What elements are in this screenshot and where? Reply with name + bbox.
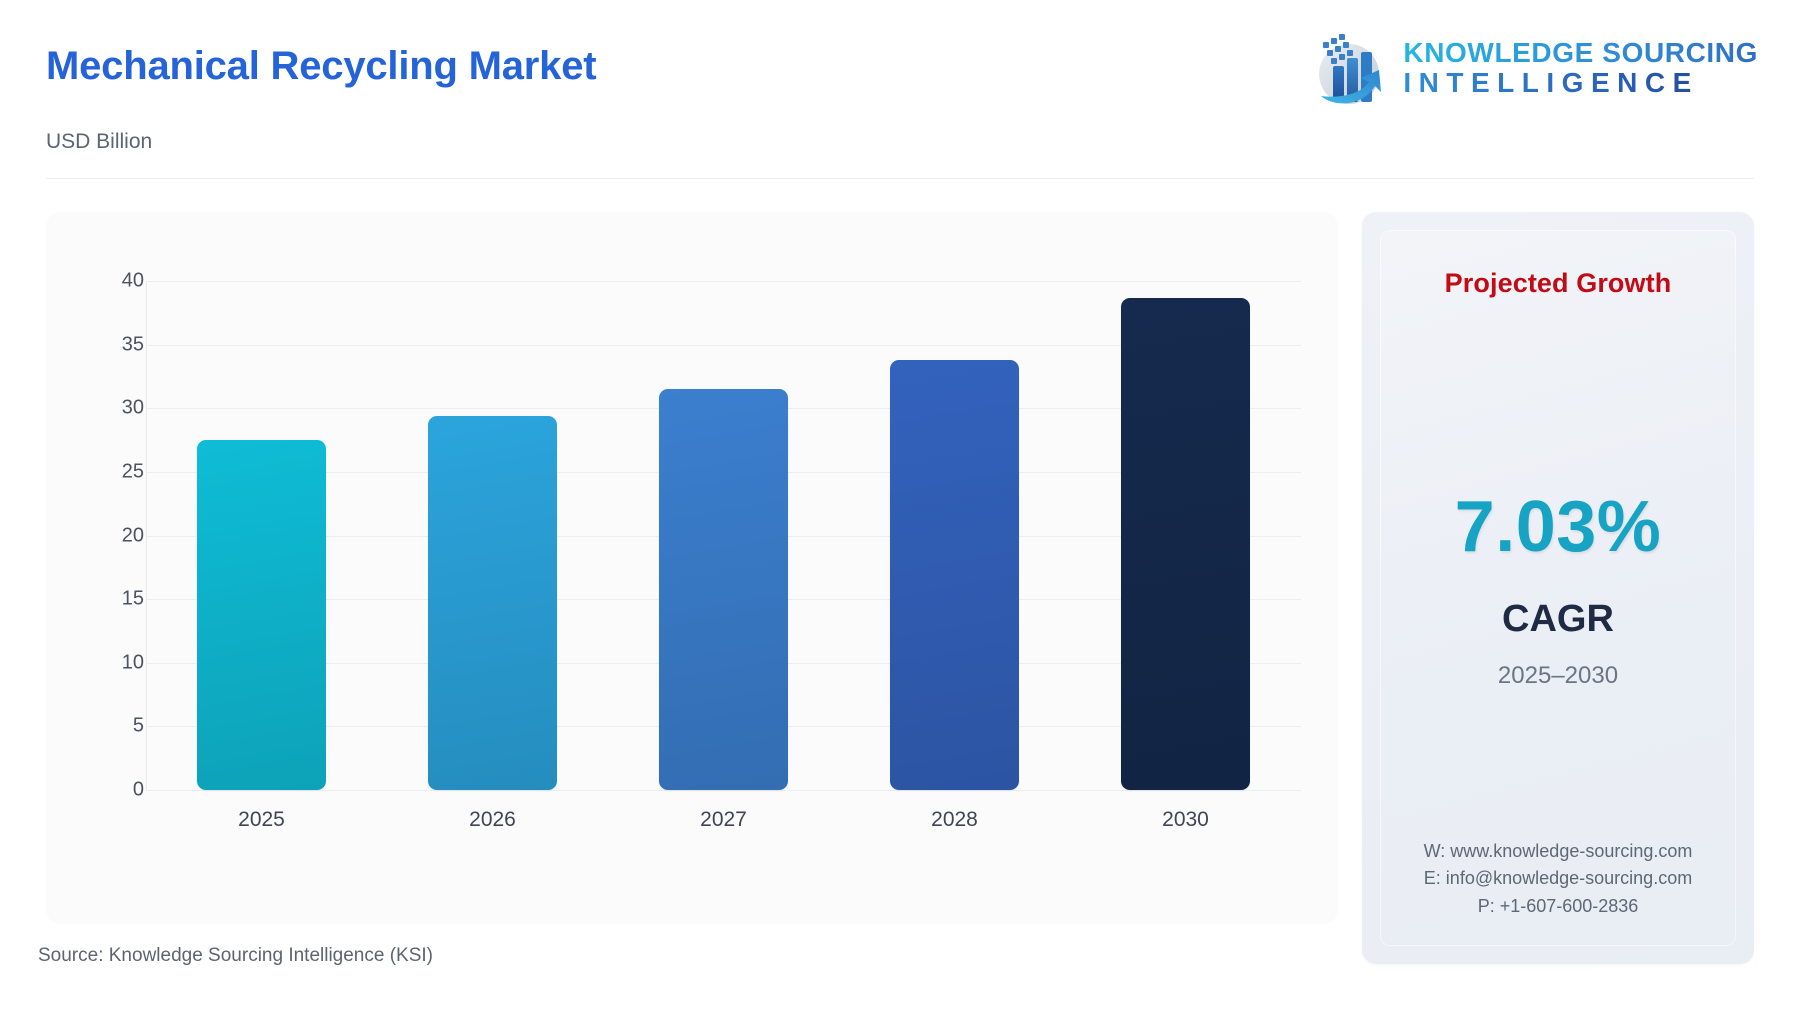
page-subtitle: USD Billion — [46, 130, 152, 154]
y-axis-tick-label: 15 — [122, 588, 144, 611]
chart-card: 051015202530354020252026202720282030 — [46, 212, 1338, 924]
x-axis-tick-label: 2027 — [659, 808, 788, 832]
bar-2027[interactable] — [659, 389, 788, 790]
cagr-label: CAGR — [1380, 598, 1736, 641]
header-divider — [46, 178, 1754, 179]
y-axis-tick-label: 40 — [122, 270, 144, 293]
page-title: Mechanical Recycling Market — [46, 44, 596, 89]
ksi-globe-bars-logo-icon — [1305, 26, 1389, 110]
bar-2025[interactable] — [197, 440, 326, 790]
projected-growth-panel: Projected Growth 7.03% CAGR 2025–2030 W:… — [1362, 212, 1754, 964]
y-axis-tick-label: 35 — [122, 333, 144, 356]
bar-2028[interactable] — [890, 360, 1019, 790]
contact-email[interactable]: E: info@knowledge-sourcing.com — [1380, 865, 1736, 892]
x-axis-tick-label: 2028 — [890, 808, 1019, 832]
logo-line-1: KNOWLEDGE SOURCING — [1403, 38, 1758, 68]
logo-line-2: INTELLIGENCE — [1403, 68, 1758, 98]
gridline — [146, 790, 1301, 791]
cagr-value: 7.03% — [1380, 486, 1736, 568]
page-header: Mechanical Recycling Market USD Billion — [0, 0, 1800, 180]
contact-block: W: www.knowledge-sourcing.com E: info@kn… — [1380, 838, 1736, 920]
projected-growth-inner-card: Projected Growth 7.03% CAGR 2025–2030 W:… — [1380, 230, 1736, 946]
cagr-period: 2025–2030 — [1380, 662, 1736, 690]
y-axis-tick-label: 25 — [122, 460, 144, 483]
projected-growth-title: Projected Growth — [1380, 268, 1736, 299]
gridline — [146, 281, 1301, 282]
x-axis-tick-label: 2030 — [1121, 808, 1250, 832]
y-axis-tick-label: 20 — [122, 524, 144, 547]
y-axis-tick-label: 10 — [122, 651, 144, 674]
y-axis-tick-label: 0 — [133, 779, 144, 802]
brand-logo: KNOWLEDGE SOURCING INTELLIGENCE — [1305, 22, 1758, 114]
bar-2030[interactable] — [1121, 298, 1250, 790]
bar-chart-plot: 051015202530354020252026202720282030 — [46, 212, 1338, 924]
y-axis-tick-label: 30 — [122, 397, 144, 420]
contact-phone[interactable]: P: +1-607-600-2836 — [1380, 893, 1736, 920]
x-axis-tick-label: 2025 — [197, 808, 326, 832]
contact-website[interactable]: W: www.knowledge-sourcing.com — [1380, 838, 1736, 865]
bar-2026[interactable] — [428, 416, 557, 790]
x-axis-tick-label: 2026 — [428, 808, 557, 832]
y-axis-tick-label: 5 — [133, 715, 144, 738]
logo-wordmark: KNOWLEDGE SOURCING INTELLIGENCE — [1403, 38, 1758, 97]
source-note: Source: Knowledge Sourcing Intelligence … — [38, 945, 433, 967]
